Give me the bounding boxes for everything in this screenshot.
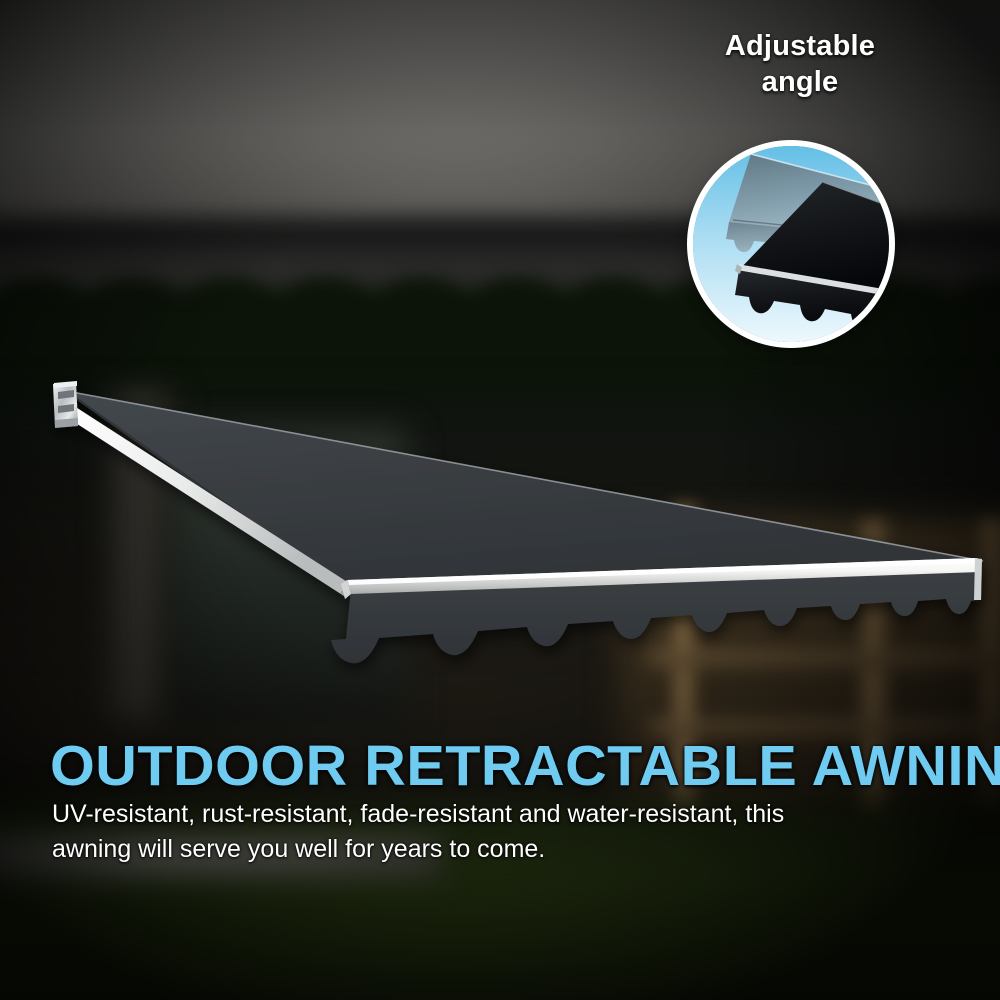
page-title: OUTDOOR RETRACTABLE AWNING [50, 735, 969, 797]
product-description: UV-resistant, rust-resistant, fade-resis… [52, 797, 932, 867]
adjustable-angle-line1: Adjustable [640, 28, 960, 64]
product-banner: Adjustable angle OUTDOOR RETRACTABLE AWN… [0, 0, 1000, 1000]
adjustable-angle-caption: Adjustable angle [640, 28, 960, 100]
awning-body [53, 381, 983, 663]
inset-image [693, 146, 889, 342]
awning-wall-bracket [53, 381, 78, 428]
adjustable-angle-line2: angle [640, 64, 960, 100]
inset-illustration [693, 146, 889, 342]
description-line-1: UV-resistant, rust-resistant, fade-resis… [52, 797, 932, 832]
awning-front-bar-end-right [974, 558, 982, 600]
description-line-2: awning will serve you well for years to … [52, 832, 932, 867]
adjustable-angle-inset [693, 146, 889, 342]
